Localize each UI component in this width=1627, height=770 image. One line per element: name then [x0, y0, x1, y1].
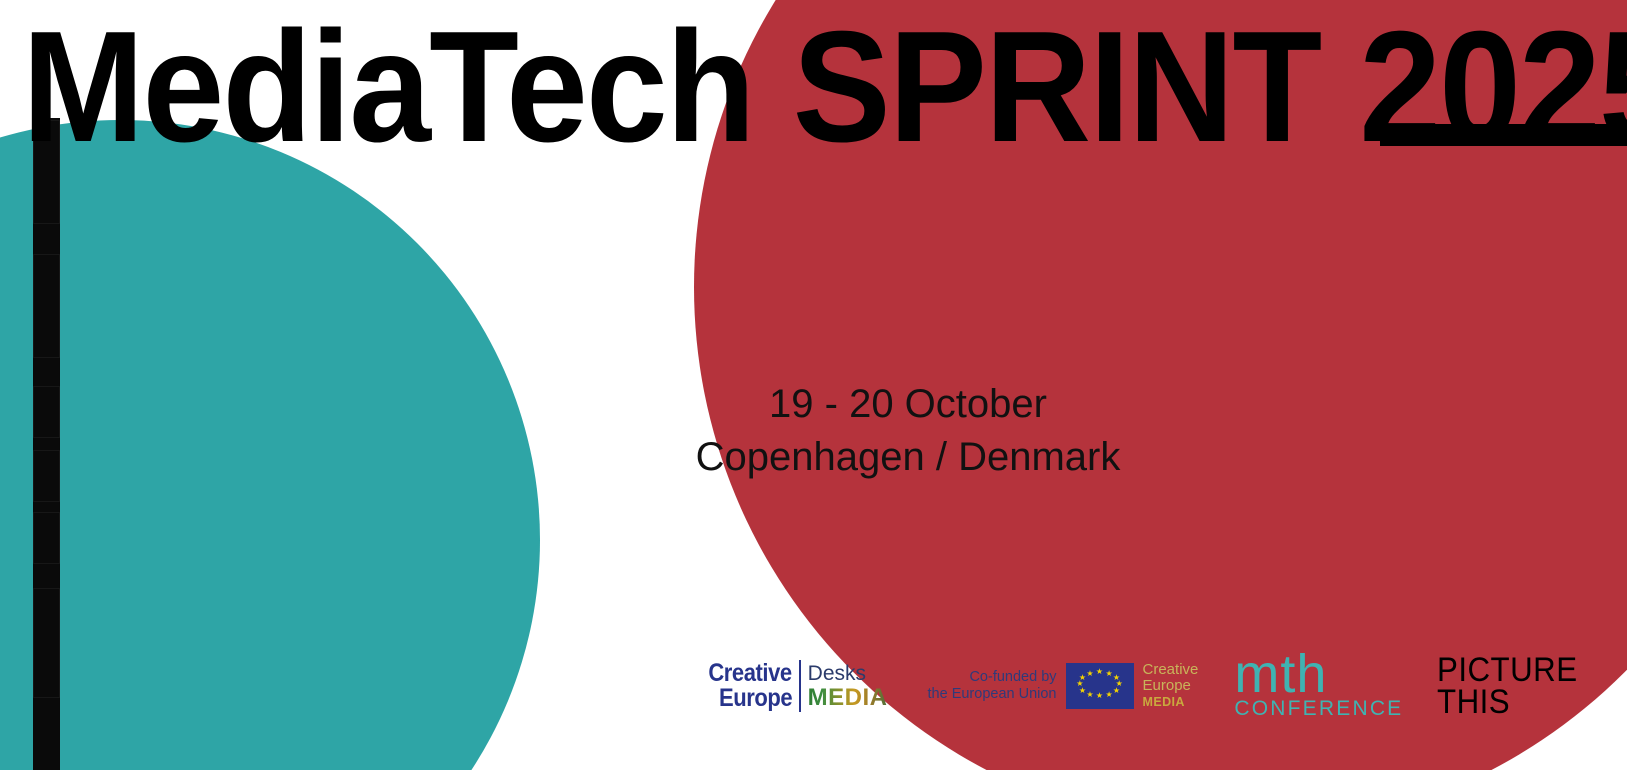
- eu-star: ★: [1079, 674, 1086, 682]
- eu-right-line1: Creative: [1143, 662, 1199, 678]
- mth-conference-label: CONFERENCE: [1234, 697, 1403, 721]
- desks-media-wordmark: Desks MEDIA: [801, 656, 888, 716]
- creative-europe-desks-logo: Creative Europe Desks MEDIA: [697, 656, 888, 716]
- event-details: 19 - 20 October Copenhagen / Denmark: [608, 378, 1208, 484]
- left-vertical-bar: [33, 118, 60, 770]
- picture-this-line2: THIS: [1437, 686, 1578, 718]
- media-label: MEDIA: [808, 685, 888, 711]
- eu-star: ★: [1086, 691, 1093, 699]
- picture-this-logo: PICTURE THIS: [1437, 654, 1590, 718]
- mth-wordmark: mth: [1234, 651, 1403, 697]
- bar-ghost-block: [33, 386, 60, 438]
- eu-cofunded-line2: the European Union: [928, 686, 1057, 703]
- eu-cofunded-line1: Co-funded by: [928, 669, 1057, 686]
- teal-circle-shape: [0, 120, 540, 770]
- bar-ghost-block: [33, 512, 60, 564]
- eu-right-line3: MEDIA: [1143, 694, 1199, 710]
- eu-cofunded-text: Co-funded by the European Union: [928, 669, 1066, 703]
- eu-star: ★: [1096, 692, 1103, 700]
- bar-ghost-block: [33, 254, 60, 358]
- eu-flag-icon: ★ ★ ★ ★ ★ ★ ★ ★ ★ ★ ★ ★: [1066, 663, 1134, 709]
- creative-europe-line2: Europe: [719, 686, 792, 711]
- bar-ghost-block: [33, 450, 60, 502]
- desks-label: Desks: [808, 662, 888, 685]
- creative-europe-line1: Creative: [708, 661, 791, 686]
- event-dates: 19 - 20 October: [608, 378, 1208, 431]
- picture-this-line1: PICTURE: [1437, 654, 1578, 686]
- eu-cofunded-logo: Co-funded by the European Union ★ ★ ★ ★ …: [928, 662, 1199, 710]
- mth-conference-logo: mth CONFERENCE: [1234, 651, 1403, 721]
- sponsor-logo-strip: Creative Europe Desks MEDIA Co-funded by…: [697, 650, 1590, 722]
- eu-star: ★: [1086, 670, 1093, 678]
- eu-right-line2: Europe: [1143, 678, 1199, 694]
- event-location: Copenhagen / Denmark: [608, 431, 1208, 484]
- eu-star: ★: [1096, 668, 1103, 676]
- eu-star: ★: [1113, 687, 1120, 695]
- eu-star: ★: [1105, 670, 1112, 678]
- poster-canvas: MediaTech SPRINT 2025 19 - 20 October Co…: [0, 0, 1627, 770]
- page-title: MediaTech SPRINT 2025: [22, 8, 1627, 166]
- creative-europe-wordmark: Creative Europe: [697, 656, 799, 716]
- eu-star: ★: [1105, 691, 1112, 699]
- eu-creative-europe-media-text: Creative Europe MEDIA: [1134, 662, 1199, 710]
- bar-ghost-block: [33, 588, 60, 698]
